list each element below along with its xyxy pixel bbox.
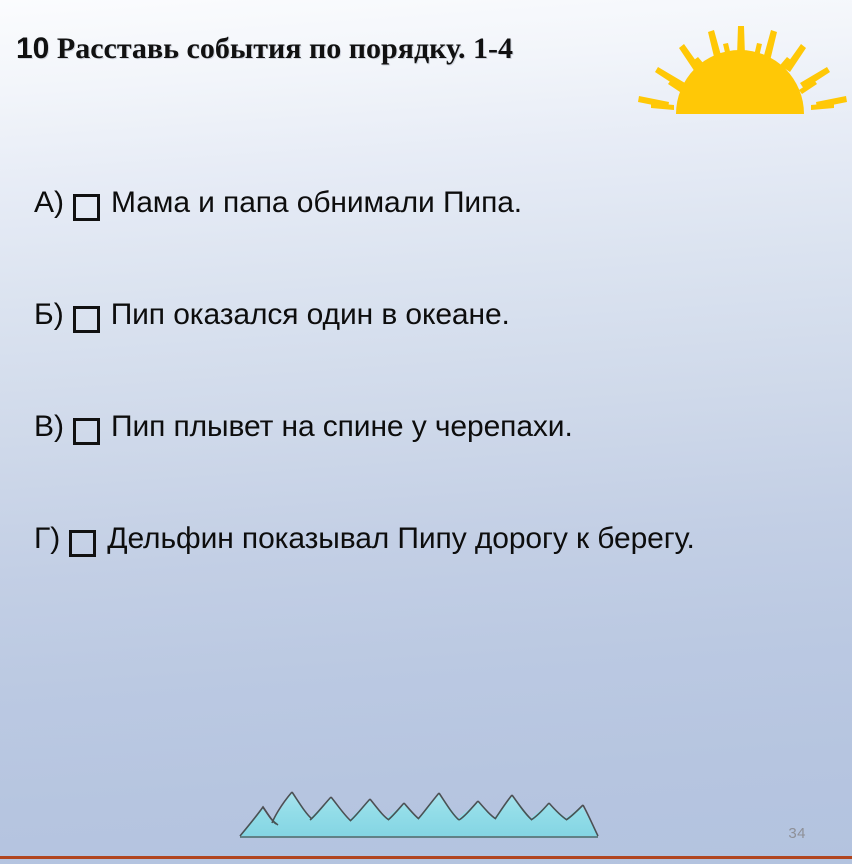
answer-label-v: В)	[34, 410, 64, 444]
answer-checkbox-b[interactable]	[73, 306, 100, 333]
answer-text-g: Дельфин показывал Пипу дорогу к берегу.	[107, 522, 694, 556]
answer-option-a[interactable]: А) Мама и папа обнимали Пипа.	[34, 186, 824, 298]
bottom-accent-rule	[0, 856, 852, 859]
answer-option-v[interactable]: В) Пип плывет на спине у черепахи.	[34, 410, 824, 522]
waves-icon	[236, 778, 602, 848]
answer-label-a: А)	[34, 186, 64, 220]
slide-canvas: 10 Расставь события по порядку. 1-4	[0, 0, 852, 864]
answer-option-g[interactable]: Г) Дельфин показывал Пипу дорогу к берег…	[34, 522, 824, 634]
answer-text-a: Мама и папа обнимали Пипа.	[111, 186, 522, 220]
answer-label-g: Г)	[34, 522, 60, 556]
page-number: 34	[788, 825, 806, 842]
answer-list: А) Мама и папа обнимали Пипа. Б) Пип ока…	[34, 186, 824, 634]
answer-checkbox-g[interactable]	[69, 530, 96, 557]
sun-icon	[632, 22, 848, 122]
answer-checkbox-v[interactable]	[73, 418, 100, 445]
answer-label-b: Б)	[34, 298, 64, 332]
answer-text-b: Пип оказался один в океане.	[111, 298, 510, 332]
title-text: Расставь события по порядку. 1-4	[57, 32, 513, 65]
answer-option-b[interactable]: Б) Пип оказался один в океане.	[34, 298, 824, 410]
page-title: 10 Расставь события по порядку. 1-4	[16, 32, 513, 66]
answer-checkbox-a[interactable]	[73, 194, 100, 221]
answer-text-v: Пип плывет на спине у черепахи.	[111, 410, 573, 444]
title-number: 10	[16, 32, 49, 65]
